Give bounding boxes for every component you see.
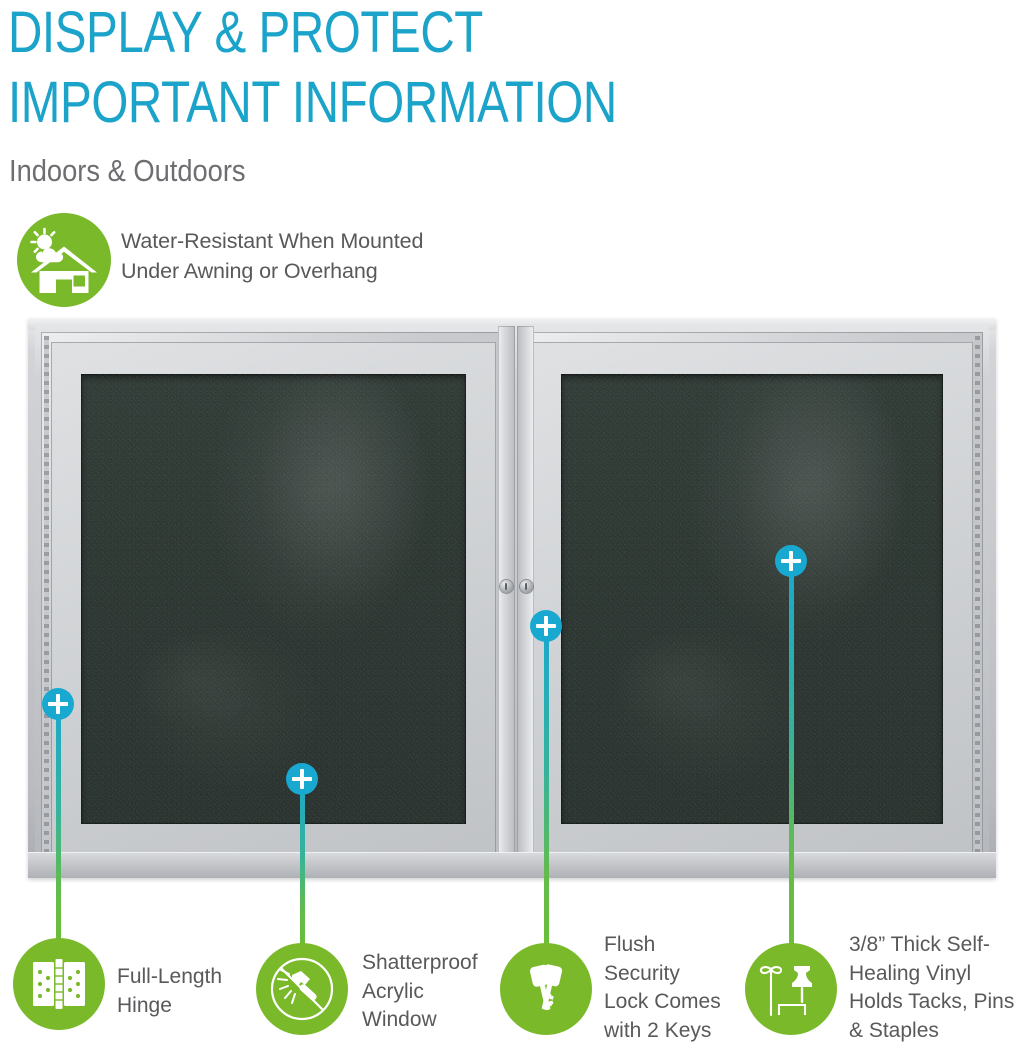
- callout-line-lock: [544, 622, 549, 957]
- house-with-sun-icon: [17, 213, 111, 307]
- door-left-inner: [51, 342, 496, 854]
- bulletin-board-cabinet: [28, 318, 996, 878]
- headline-line-1: DISPLAY & PROTECT: [8, 0, 828, 68]
- callout-marker-window[interactable]: [286, 763, 318, 795]
- lock-cylinder-left[interactable]: [500, 580, 513, 593]
- callout-line-window: [300, 775, 305, 955]
- callout-line-vinyl: [789, 554, 794, 954]
- headline-line-2: IMPORTANT INFORMATION: [8, 68, 828, 138]
- feature-label-lock: Flush Security Lock Comes with 2 Keys: [604, 931, 721, 1045]
- tack-pin-staple-icon: [745, 943, 837, 1035]
- hinge-icon-right: [975, 336, 980, 860]
- vinyl-tackboard-left: [81, 374, 466, 824]
- door-stile-left: [498, 326, 515, 870]
- no-hammer-icon: [256, 943, 348, 1035]
- door-stile-right: [517, 326, 534, 870]
- feature-label-vinyl: 3/8” Thick Self- Healing Vinyl Holds Tac…: [849, 931, 1014, 1045]
- cabinet-bottom-rail: [28, 852, 996, 878]
- feature-label-hinge: Full-Length Hinge: [117, 963, 222, 1020]
- two-keys-icon: [500, 943, 592, 1035]
- lock-cylinder-right[interactable]: [520, 580, 533, 593]
- door-left-bevel: [41, 332, 506, 864]
- door-right-inner: [531, 342, 973, 854]
- hinge-icon: [44, 336, 49, 860]
- door-right-bevel: [521, 332, 983, 864]
- water-resistant-text: Water-Resistant When Mounted Under Awnin…: [121, 226, 423, 286]
- callout-marker-hinge[interactable]: [42, 688, 74, 720]
- headline-block: DISPLAY & PROTECT IMPORTANT INFORMATION: [8, 0, 1008, 138]
- water-resistant-line-1: Water-Resistant When Mounted: [121, 226, 423, 256]
- callout-marker-vinyl[interactable]: [775, 545, 807, 577]
- hinge-icon: [13, 938, 105, 1030]
- callout-line-hinge: [56, 700, 61, 950]
- feature-label-window: Shatterproof Acrylic Window: [362, 949, 478, 1035]
- cabinet-door-left[interactable]: [35, 326, 512, 870]
- vinyl-tackboard-right: [561, 374, 943, 824]
- subtitle: Indoors & Outdoors: [9, 152, 246, 190]
- cabinet-door-right[interactable]: [515, 326, 989, 870]
- water-resistant-line-2: Under Awning or Overhang: [121, 256, 423, 286]
- callout-marker-lock[interactable]: [530, 610, 562, 642]
